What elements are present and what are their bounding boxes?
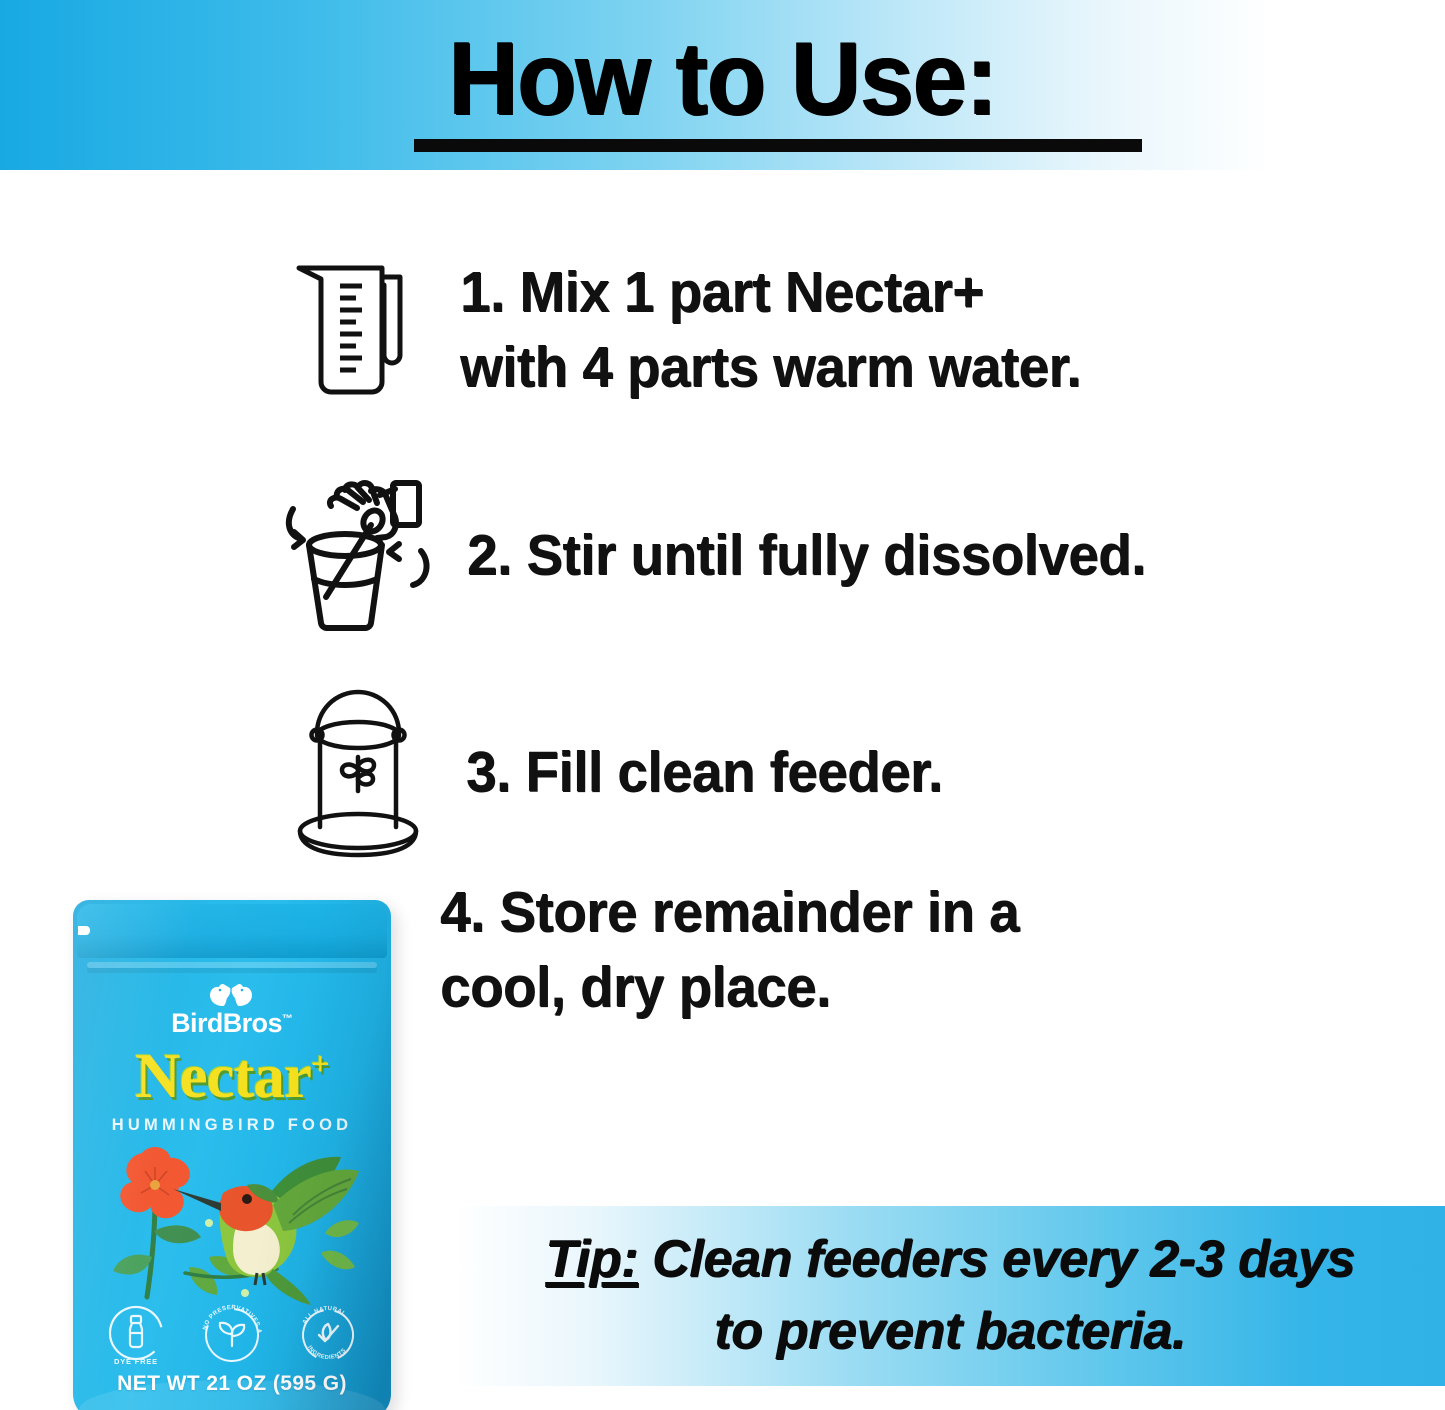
svg-text:ALL NATURAL: ALL NATURAL bbox=[302, 1306, 347, 1325]
step-item-1: 1. Mix 1 part Nectar+ with 4 parts warm … bbox=[288, 255, 1107, 405]
header-title-wrap: How to Use: bbox=[0, 26, 1445, 132]
bird-feeder-icon bbox=[288, 685, 428, 861]
step-label-1: 1. Mix 1 part Nectar+ with 4 parts warm … bbox=[460, 255, 1081, 405]
brand-name: BirdBros™ bbox=[73, 1008, 391, 1039]
trademark-symbol: ™ bbox=[282, 1013, 293, 1025]
page-title: How to Use: bbox=[448, 26, 997, 132]
stir-spoon-in-glass-icon bbox=[285, 475, 437, 637]
badge-no-preservatives-added: NO PRESERVATIVES ADDED bbox=[197, 1302, 267, 1368]
hummingbird-flower-artwork bbox=[97, 1145, 371, 1305]
pouch-zipper-line bbox=[87, 962, 377, 968]
product-name: Nectar+ bbox=[73, 1040, 391, 1113]
net-weight-label: NET WT 21 OZ (595 G) bbox=[73, 1372, 391, 1396]
product-name-text: Nectar bbox=[135, 1041, 311, 1111]
pouch-tear-notch bbox=[78, 926, 90, 935]
step-label-4: 4. Store remainder in a cool, dry place. bbox=[440, 875, 1019, 1025]
product-package: BirdBros™ Nectar+ HUMMINGBIRD FOOD bbox=[73, 900, 391, 1410]
svg-text:DYE FREE: DYE FREE bbox=[114, 1357, 158, 1366]
tip-line-2: to prevent bacteria. bbox=[714, 1296, 1186, 1368]
measuring-cup-icon bbox=[288, 255, 438, 405]
two-birds-logo-icon bbox=[73, 982, 391, 1010]
product-subtitle: HUMMINGBIRD FOOD bbox=[73, 1116, 391, 1135]
tip-line-1: Tip: Clean feeders every 2-3 days bbox=[545, 1224, 1355, 1296]
pouch-body: BirdBros™ Nectar+ HUMMINGBIRD FOOD bbox=[73, 900, 391, 1410]
badge-dye-free: DYE FREE bbox=[101, 1302, 171, 1368]
step-item-2: 2. Stir until fully dissolved. bbox=[285, 475, 1174, 637]
step-item-3: 3. Fill clean feeder. bbox=[288, 685, 962, 861]
badge-all-natural-ingredients: ALL NATURAL INGREDIENTS bbox=[293, 1302, 363, 1368]
step-item-4: 4. Store remainder in a cool, dry place. bbox=[440, 875, 1043, 1025]
step-label-3: 3. Fill clean feeder. bbox=[466, 735, 943, 810]
svg-text:NO PRESERVATIVES ADDED: NO PRESERVATIVES ADDED bbox=[197, 1302, 262, 1334]
infographic-canvas: How to Use: bbox=[0, 0, 1445, 1410]
tip-lead-label: Tip: bbox=[545, 1230, 638, 1288]
tip-callout: Tip: Clean feeders every 2-3 days to pre… bbox=[455, 1206, 1445, 1386]
product-plus-symbol: + bbox=[311, 1047, 329, 1083]
title-underline-rule bbox=[414, 139, 1142, 152]
package-badges: DYE FREE NO PRESERVATIVES ADDED bbox=[101, 1302, 363, 1368]
brand-name-text: BirdBros bbox=[171, 1008, 282, 1038]
svg-text:INGREDIENTS: INGREDIENTS bbox=[306, 1345, 348, 1361]
pouch-top-seal bbox=[77, 904, 387, 958]
tip-line-1-rest: Clean feeders every 2-3 days bbox=[638, 1230, 1355, 1288]
step-label-2: 2. Stir until fully dissolved. bbox=[467, 518, 1146, 593]
